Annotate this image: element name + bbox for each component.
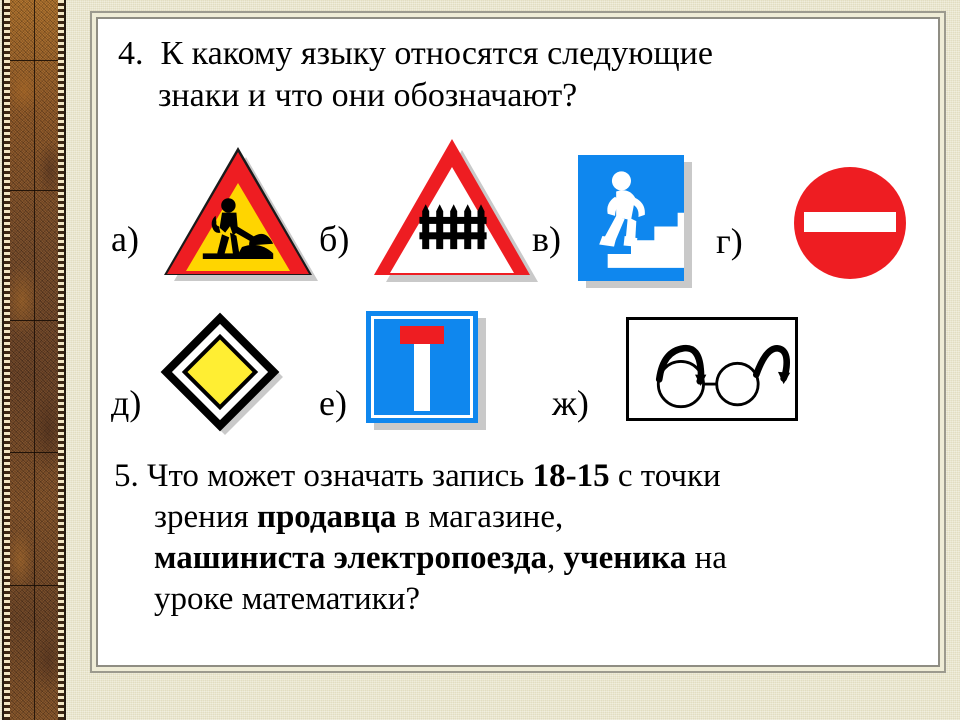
question-4-line1: К какому языку относятся следующие <box>161 35 713 72</box>
sign-row-top: а) <box>98 129 938 284</box>
sign-label-zh: ж) <box>552 385 589 421</box>
no-entry-bar <box>804 212 896 232</box>
sign-label-v: в) <box>532 221 561 257</box>
question-5-line2: зрения продавца в магазине, <box>114 497 930 538</box>
railway-crossing-sign <box>374 139 534 287</box>
dead-end-sign <box>366 311 496 437</box>
question-4-line2: знаки и что они обозначают? <box>118 75 928 117</box>
stairs-figure-icon <box>578 155 684 281</box>
sign-label-e: е) <box>319 385 347 421</box>
slide-canvas: 4. К какому языку относятся следующие зн… <box>0 0 960 720</box>
decorative-left-border <box>0 0 68 720</box>
sign-label-a: а) <box>111 221 139 257</box>
blue-sign-field <box>578 155 684 281</box>
border-rule <box>64 0 66 720</box>
eyeglasses-icon <box>629 320 795 418</box>
sign-item-a: а) <box>108 129 323 284</box>
sign-item-zh: ж) <box>528 307 938 442</box>
sign-label-d: д) <box>111 385 141 421</box>
question-5-line4: уроке математики? <box>114 579 930 620</box>
fence-barrier-icon <box>418 201 488 251</box>
question-5-line1: 5. Что может означать запись 18-15 с точ… <box>114 456 930 497</box>
sign-item-b: б) <box>316 129 536 284</box>
sign-label-b: б) <box>319 221 349 257</box>
sign-item-g: г) <box>708 129 938 284</box>
no-entry-disc <box>794 167 906 279</box>
sign-item-d: д) <box>108 307 318 442</box>
border-gridline <box>34 0 35 720</box>
roadworks-sign <box>164 147 316 281</box>
no-entry-sign <box>794 167 922 287</box>
blue-sign-field <box>366 311 478 423</box>
sign-label-g: г) <box>716 223 743 259</box>
question-5-number: 5. <box>114 458 139 494</box>
priority-road-sign <box>156 311 316 443</box>
border-rule <box>2 0 4 720</box>
dead-end-red-bar <box>400 326 444 344</box>
border-dot-rail <box>4 0 10 720</box>
road-worker-icon <box>189 191 287 271</box>
sign-row-bottom: д) е) <box>98 307 938 442</box>
question-5-line3: машиниста электропоезда, ученика на <box>114 538 930 579</box>
sign-item-e: е) <box>313 307 513 442</box>
question-4-number: 4. <box>118 35 144 72</box>
eyeglasses-frame-box <box>626 317 798 421</box>
pedestrian-underpass-sign <box>578 155 698 285</box>
content-panel: 4. К какому языку относятся следующие зн… <box>98 19 938 665</box>
question-4: 4. К какому языку относятся следующие зн… <box>118 33 928 117</box>
sign-item-v: в) <box>528 129 728 284</box>
question-5: 5. Что может означать запись 18-15 с точ… <box>114 456 930 620</box>
